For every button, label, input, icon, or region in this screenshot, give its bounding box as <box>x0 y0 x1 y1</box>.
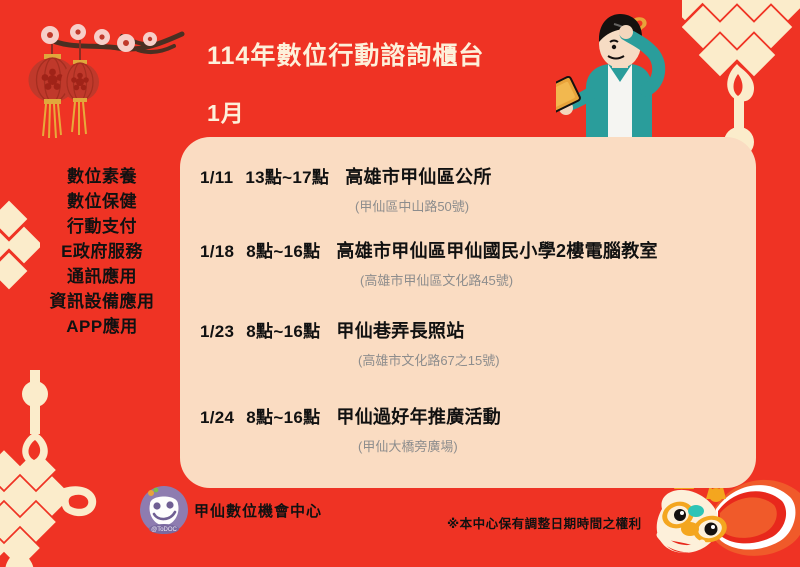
lantern-pair-icon <box>10 4 185 144</box>
schedule-list: 1/11 13點~17點 高雄市甲仙區公所 (甲仙區中山路50號) 1/18 8… <box>180 137 756 488</box>
schedule-date: 1/23 <box>200 322 234 342</box>
confused-person-icon: ? <box>556 0 684 138</box>
schedule-address: (高雄市甲仙區文化路45號) <box>180 270 756 289</box>
disclaimer-text: ※本中心保有調整日期時間之權利 <box>447 513 642 532</box>
schedule-row: 1/18 8點~16點 高雄市甲仙區甲仙國民小學2樓電腦教室 (高雄市甲仙區文化… <box>180 237 756 289</box>
sidebar-item-egov-services: E政府服務 <box>22 239 182 264</box>
schedule-row: 1/23 8點~16點 甲仙巷弄長照站 (高雄市文化路67之15號) <box>180 317 756 369</box>
schedule-address: (甲仙大橋旁廣場) <box>180 436 756 455</box>
schedule-row: 1/11 13點~17點 高雄市甲仙區公所 (甲仙區中山路50號) <box>180 163 756 215</box>
schedule-date: 1/11 <box>200 168 233 188</box>
schedule-address: (甲仙區中山路50號) <box>180 196 756 215</box>
page-subtitle: 1月 <box>207 94 245 128</box>
mascot-badge-text: @ToDOC <box>151 527 177 533</box>
schedule-place: 高雄市甲仙區公所 <box>345 163 491 189</box>
schedule-panel: 1/11 13點~17點 高雄市甲仙區公所 (甲仙區中山路50號) 1/18 8… <box>180 137 756 488</box>
schedule-time: 8點~16點 <box>246 317 320 342</box>
sidebar-item-mobile-payment: 行動支付 <box>22 214 182 239</box>
sidebar-item-communication-apps: 通訊應用 <box>22 264 182 289</box>
organization-name: 甲仙數位機會中心 <box>194 500 322 521</box>
sidebar-item-digital-health: 數位保健 <box>22 189 182 214</box>
sidebar-item-it-equipment: 資訊設備應用 <box>22 289 182 314</box>
schedule-row: 1/24 8點~16點 甲仙過好年推廣活動 (甲仙大橋旁廣場) <box>180 403 756 455</box>
svg-text:?: ? <box>630 12 648 45</box>
sidebar-item-app-usage: APP應用 <box>22 314 182 339</box>
schedule-date: 1/24 <box>200 408 234 428</box>
schedule-place: 甲仙過好年推廣活動 <box>336 403 501 429</box>
schedule-address: (高雄市文化路67之15號) <box>180 350 756 369</box>
sidebar-item-digital-literacy: 數位素養 <box>22 164 182 189</box>
schedule-time: 8點~16點 <box>246 237 320 262</box>
schedule-place: 高雄市甲仙區甲仙國民小學2樓電腦教室 <box>336 237 657 263</box>
organization-logo: @ToDOC 甲仙數位機會中心 <box>138 484 322 536</box>
page-title: 114年數位行動諮詢櫃台 <box>207 36 484 72</box>
poster-canvas: ? <box>0 0 800 567</box>
topics-sidebar: 數位素養 數位保健 行動支付 E政府服務 通訊應用 資訊設備應用 APP應用 <box>22 164 182 339</box>
mascot-logo-icon: @ToDOC <box>138 484 190 536</box>
schedule-time: 13點~17點 <box>245 163 329 188</box>
schedule-place: 甲仙巷弄長照站 <box>336 317 464 343</box>
chinese-knot-icon <box>0 370 116 567</box>
schedule-time: 8點~16點 <box>246 403 320 428</box>
schedule-date: 1/18 <box>200 242 234 262</box>
